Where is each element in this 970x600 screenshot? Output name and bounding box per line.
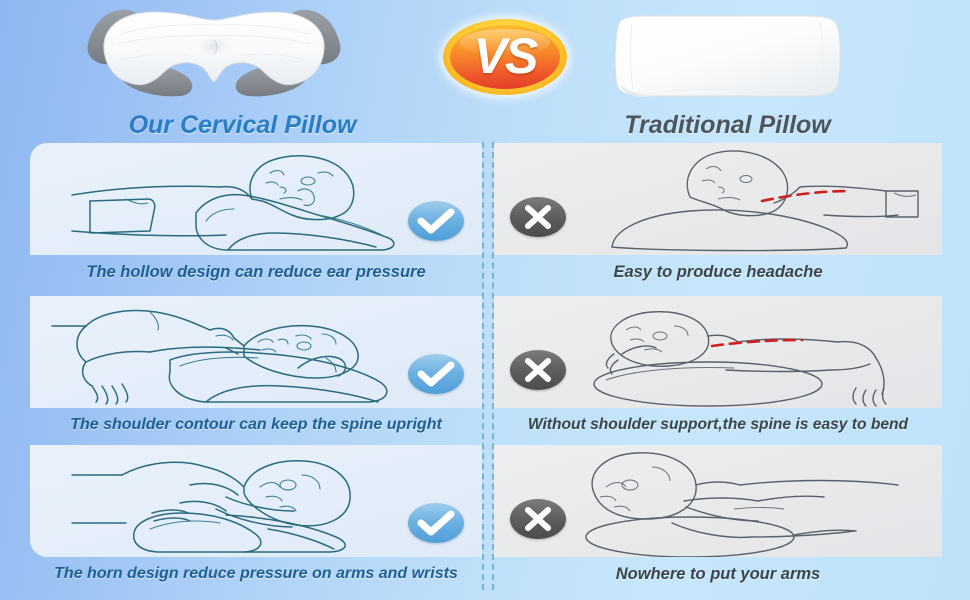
illustration-panel-right-row1: [494, 143, 942, 255]
check-icon: [408, 201, 464, 241]
comparison-row-ear-pressure: The hollow design can reduce ear pressur…: [0, 143, 970, 295]
check-icon: [408, 503, 464, 543]
illustration-panel-right-row2: [494, 296, 942, 408]
caption-right-row3: Nowhere to put your arms: [494, 557, 942, 591]
x-badge-row3: [510, 499, 566, 539]
comparison-row-shoulder-contour: The shoulder contour can keep the spine …: [0, 296, 970, 444]
comparison-rows: The hollow design can reduce ear pressur…: [0, 0, 970, 600]
caption-left-row2: The shoulder contour can keep the spine …: [30, 408, 482, 442]
caption-right-row1: Easy to produce headache: [494, 255, 942, 289]
pillow-comparison-infographic: VS: [0, 0, 970, 600]
close-icon: [510, 499, 566, 539]
caption-left-row3: The horn design reduce pressure on arms …: [30, 557, 482, 591]
illustration-panel-left-row3: [30, 445, 482, 557]
close-icon: [510, 197, 566, 237]
check-badge-row1: [408, 201, 464, 241]
close-icon: [510, 350, 566, 390]
comparison-row-horn-design: The horn design reduce pressure on arms …: [0, 445, 970, 595]
illustration-panel-left-row1: [30, 143, 482, 255]
check-badge-row3: [408, 503, 464, 543]
x-badge-row2: [510, 350, 566, 390]
caption-left-row1: The hollow design can reduce ear pressur…: [30, 255, 482, 289]
caption-right-row2: Without shoulder support,the spine is ea…: [494, 408, 942, 442]
x-badge-row1: [510, 197, 566, 237]
check-badge-row2: [408, 354, 464, 394]
illustration-panel-left-row2: [30, 296, 482, 408]
check-icon: [408, 354, 464, 394]
illustration-panel-right-row3: [494, 445, 942, 557]
